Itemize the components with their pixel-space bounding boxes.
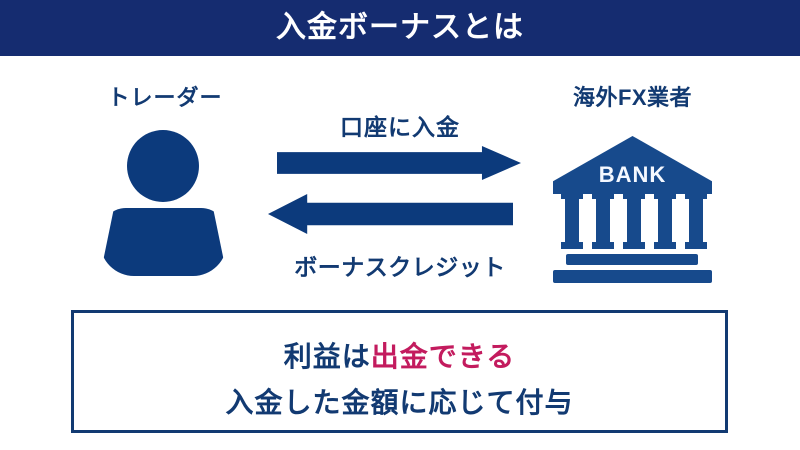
person-body-shape: [100, 208, 227, 276]
arrow-right-icon: [277, 146, 521, 180]
deposit-flow-label: 口座に入金: [275, 108, 525, 142]
arrow-left-icon: [268, 194, 513, 234]
bank-lower-base-slab: [553, 270, 712, 283]
bank-column: [565, 198, 579, 248]
broker-label: 海外FX業者: [525, 80, 740, 112]
bank-column-cap: [685, 192, 707, 199]
bank-roof-text: BANK: [553, 136, 712, 194]
bank-column-cap: [592, 192, 614, 199]
bank-upper-base-slab: [566, 254, 698, 265]
bank-column: [658, 198, 672, 248]
note-line-2: 入金した金額に応じて付与: [74, 381, 725, 421]
trader-label: トレーダー: [55, 80, 275, 112]
note-line-1-accent: 出金できる: [371, 341, 515, 372]
bank-column-base: [623, 242, 645, 249]
bank-column-base: [685, 242, 707, 249]
note-box: 利益は出金できる 入金した金額に応じて付与: [71, 310, 728, 433]
note-line-1: 利益は出金できる: [74, 335, 725, 375]
bank-column-base: [561, 242, 583, 249]
bank-column-base: [654, 242, 676, 249]
bank-icon: BANK: [550, 136, 715, 284]
person-icon: [100, 130, 240, 280]
bank-column: [627, 198, 641, 248]
infographic-page: 入金ボーナスとは トレーダー 口座に入金 ボーナスクレジット 海外FX業者 BA…: [0, 0, 800, 450]
bonus-flow-label: ボーナスクレジット: [255, 248, 545, 282]
person-head-shape: [127, 130, 199, 202]
bank-column-cap: [654, 192, 676, 199]
bank-column: [596, 198, 610, 248]
bank-column-cap: [623, 192, 645, 199]
bank-column: [689, 198, 703, 248]
bank-column-cap: [561, 192, 583, 199]
bank-column-base: [592, 242, 614, 249]
note-line-1-prefix: 利益は: [284, 341, 371, 372]
page-title: 入金ボーナスとは: [0, 0, 800, 56]
